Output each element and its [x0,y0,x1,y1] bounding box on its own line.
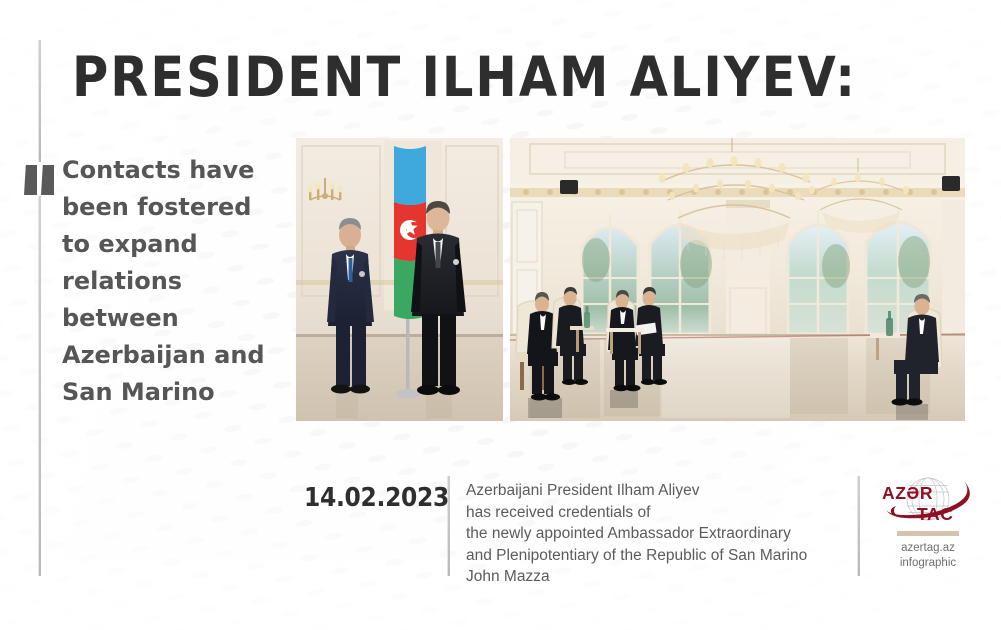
caption-line: has received credentials of [466,502,856,524]
caption-line: Azerbaijani President Ilham Aliyev [466,480,856,502]
page-title: PRESIDENT ILHAM ALIYEV: [72,46,857,108]
caption-line: and Plenipotentiary of the Republic of S… [466,545,856,567]
quote-line: Azerbaijan and [62,337,277,374]
caption-text: Azerbaijani President Ilham Aliyev has r… [466,480,856,588]
infographic-canvas: PRESIDENT ILHAM ALIYEV: Contacts have be… [0,0,1001,630]
logo-website[interactable]: azertag.az [872,541,984,556]
svg-text:TAC: TAC [917,504,953,524]
quote-text: Contacts have been fostered to expand re… [62,152,277,411]
quote-line: to expand [62,226,277,263]
svg-text:AZƏR: AZƏR [882,483,933,503]
quote-line: San Marino [62,374,277,411]
caption-line: John Mazza [466,566,856,588]
quote-line: been fostered [62,189,277,226]
quote-line: relations [62,263,277,300]
publication-date: 14.02.2023 [304,483,449,513]
logo-divider-bar [897,531,959,536]
divider-caption-logo [857,476,860,576]
azertac-logo-block[interactable]: AZƏR TAC azertag.az infographic [872,473,984,577]
quotation-mark-icon [24,165,62,195]
divider-top-left [38,40,41,162]
photo-reception-hall [510,138,965,421]
quote-line: Contacts have [62,152,277,189]
logo-kind: infographic [872,556,984,571]
quote-line: between [62,300,277,337]
caption-line: the newly appointed Ambassador Extraordi… [466,523,856,545]
azertac-logo-icon: AZƏR TAC [872,473,984,525]
divider-quote-left [38,196,41,576]
photo-president-with-ambassador [296,138,503,421]
